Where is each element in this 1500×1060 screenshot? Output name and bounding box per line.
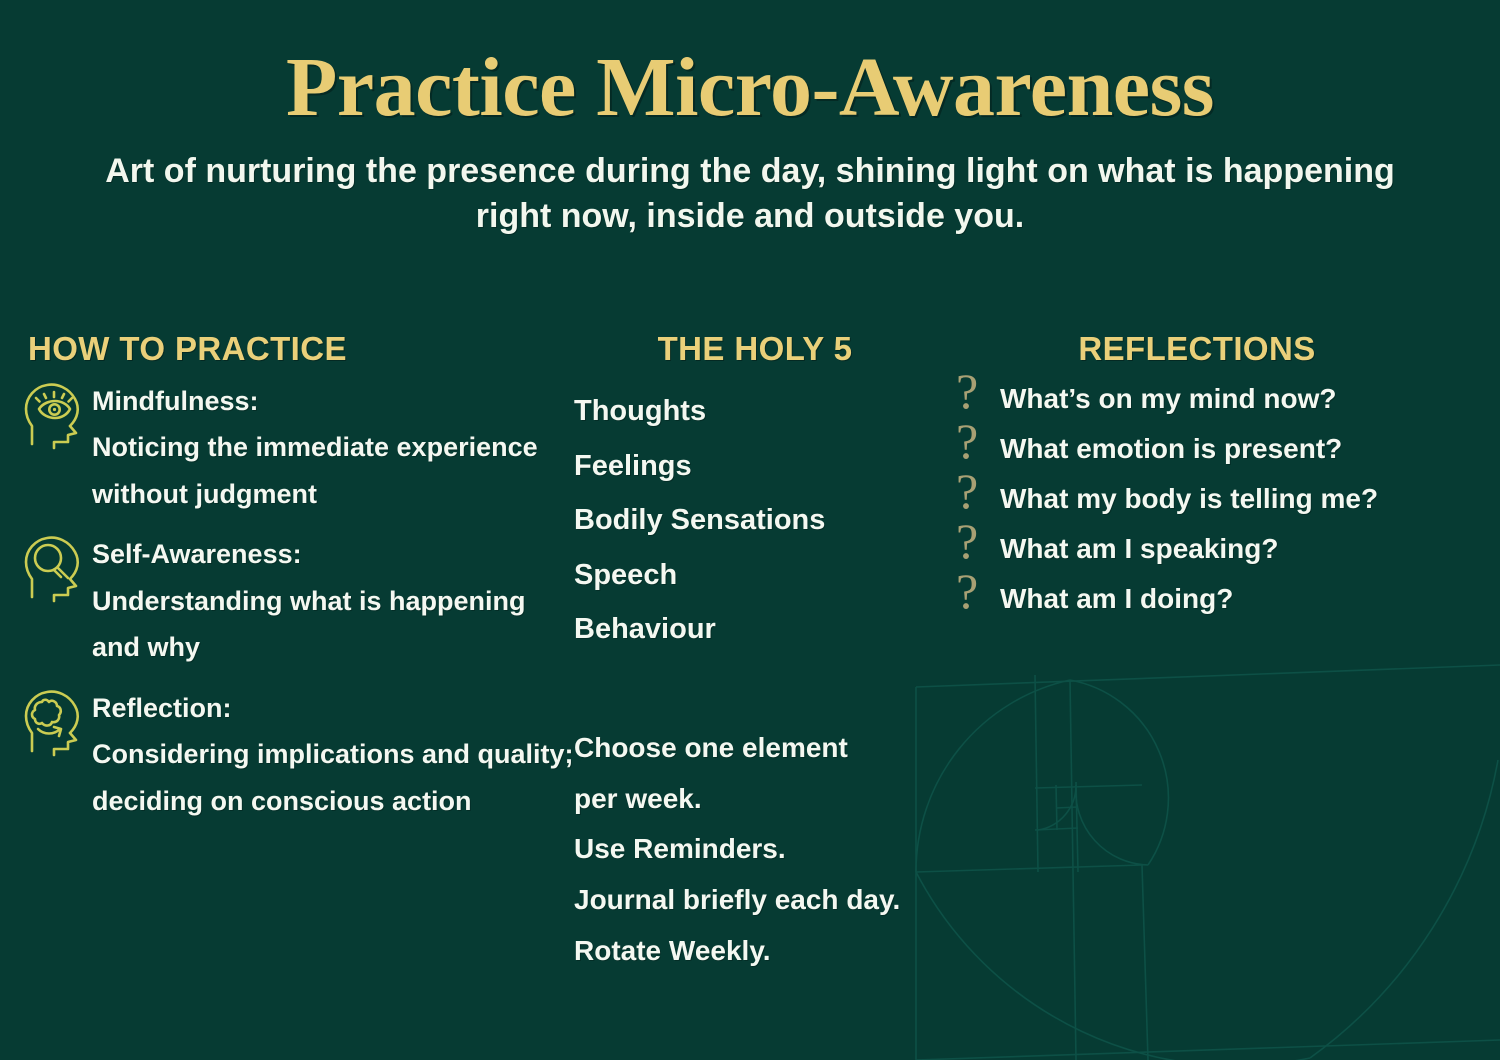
reflection-question: What am I doing? — [1000, 578, 1490, 620]
column-the-holy-5: THE HOLY 5 Thoughts Feelings Bodily Sens… — [560, 330, 950, 977]
head-magnifier-icon — [16, 531, 88, 603]
list-item: Speech — [574, 548, 950, 603]
holy-5-list: Thoughts Feelings Bodily Sensations Spee… — [560, 384, 950, 657]
practice-text-reflection: Reflection: Considering implications and… — [92, 685, 574, 824]
poster-canvas: Practice Micro-Awareness Art of nurturin… — [0, 0, 1500, 1060]
poster-header: Practice Micro-Awareness Art of nurturin… — [0, 0, 1500, 239]
reflection-question: What am I speaking? — [1000, 528, 1490, 570]
list-item: Behaviour — [574, 602, 950, 657]
head-eye-icon — [16, 378, 88, 450]
reflection-question: What’s on my mind now? — [1000, 378, 1490, 420]
question-mark-icon: ? — [956, 416, 978, 466]
column-reflections: REFLECTIONS ? What’s on my mind now? ? W… — [950, 330, 1490, 628]
practice-block-reflection: Reflection: Considering implications and… — [14, 685, 574, 824]
question-mark-icon: ? — [956, 566, 978, 616]
column-heading-how-to-practice: HOW TO PRACTICE — [14, 330, 574, 368]
list-item: Thoughts — [574, 384, 950, 439]
reflections-list: ? What’s on my mind now? ? What emotion … — [950, 378, 1490, 620]
list-item: Feelings — [574, 439, 950, 494]
practice-text-self-awareness: Self-Awareness: Understanding what is ha… — [92, 531, 574, 670]
practice-description: Noticing the immediate experience withou… — [92, 424, 574, 517]
practice-term: Self-Awareness: — [92, 531, 574, 577]
list-item: Choose one element — [574, 723, 950, 774]
reflection-question: What emotion is present? — [1000, 428, 1490, 470]
list-item: ? What am I doing? — [950, 578, 1490, 620]
list-item: per week. — [574, 774, 950, 825]
column-heading-reflections: REFLECTIONS — [950, 330, 1490, 368]
list-item: ? What am I speaking? — [950, 528, 1490, 570]
list-item: ? What emotion is present? — [950, 428, 1490, 470]
practice-tips-list: Choose one element per week. Use Reminde… — [560, 723, 950, 978]
list-item: Use Reminders. — [574, 824, 950, 875]
page-subtitle: Art of nurturing the presence during the… — [105, 149, 1395, 239]
content-columns: HOW TO PRACTICE — [0, 330, 1500, 1060]
practice-description: Understanding what is happening and why — [92, 578, 574, 671]
practice-term: Mindfulness: — [92, 378, 574, 424]
list-item: Journal briefly each day. — [574, 875, 950, 926]
page-title: Practice Micro-Awareness — [0, 0, 1500, 131]
reflection-question: What my body is telling me? — [1000, 478, 1490, 520]
question-mark-icon: ? — [956, 466, 978, 516]
question-mark-icon: ? — [956, 366, 978, 416]
list-item: Rotate Weekly. — [574, 926, 950, 977]
column-how-to-practice: HOW TO PRACTICE — [14, 330, 574, 838]
practice-description: Considering implications and quality; de… — [92, 731, 574, 824]
practice-term: Reflection: — [92, 685, 574, 731]
practice-text-mindfulness: Mindfulness: Noticing the immediate expe… — [92, 378, 574, 517]
column-heading-the-holy-5: THE HOLY 5 — [560, 330, 950, 368]
list-item: ? What’s on my mind now? — [950, 378, 1490, 420]
list-item: Bodily Sensations — [574, 493, 950, 548]
head-brain-arrow-icon — [16, 685, 88, 757]
list-item: ? What my body is telling me? — [950, 478, 1490, 520]
question-mark-icon: ? — [956, 516, 978, 566]
practice-block-self-awareness: Self-Awareness: Understanding what is ha… — [14, 531, 574, 670]
practice-block-mindfulness: Mindfulness: Noticing the immediate expe… — [14, 378, 574, 517]
